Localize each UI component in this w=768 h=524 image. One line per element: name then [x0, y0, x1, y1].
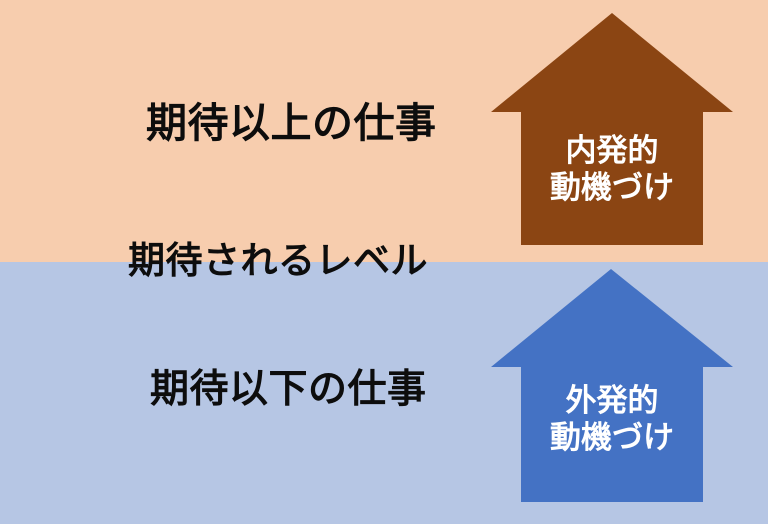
diagram-canvas: 期待以上の仕事 期待されるレベル 期待以下の仕事 内発的 動機づけ 外発的 動機…	[0, 0, 768, 524]
arrow-label-intrinsic: 内発的 動機づけ	[489, 133, 735, 206]
arrow-label-intrinsic-line2: 動機づけ	[489, 170, 735, 207]
arrow-label-extrinsic-line1: 外発的	[489, 383, 735, 420]
label-expected-level: 期待されるレベル	[128, 242, 428, 279]
up-arrow-icon	[489, 10, 735, 248]
arrow-label-extrinsic: 外発的 動機づけ	[489, 383, 735, 456]
up-arrow-intrinsic: 内発的 動機づけ	[489, 10, 735, 248]
label-above-expectation: 期待以上の仕事	[146, 103, 437, 144]
label-below-expectation: 期待以下の仕事	[150, 370, 427, 409]
arrow-label-intrinsic-line1: 内発的	[489, 133, 735, 170]
arrow-label-extrinsic-line2: 動機づけ	[489, 420, 735, 457]
up-arrow-extrinsic: 外発的 動機づけ	[489, 266, 735, 504]
